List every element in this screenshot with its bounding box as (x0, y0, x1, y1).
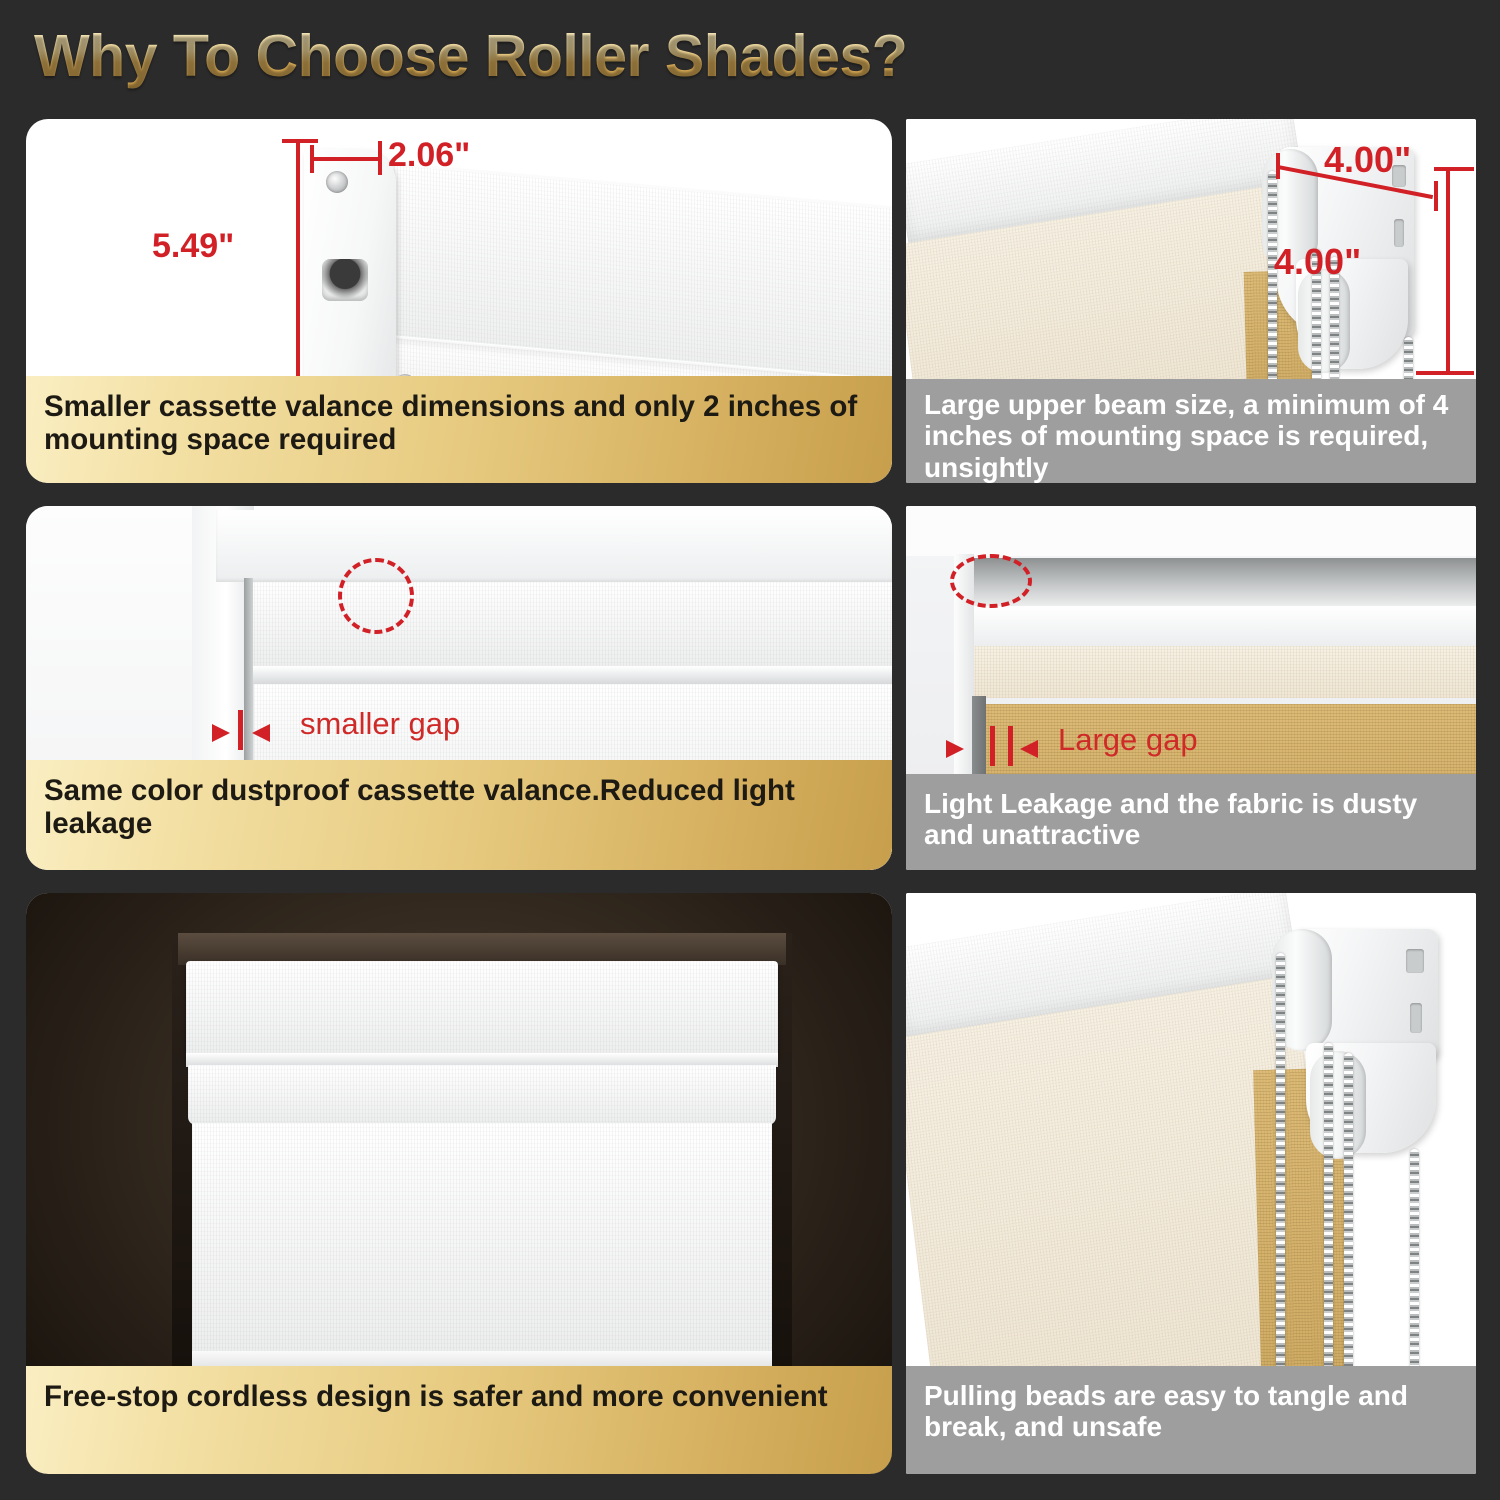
valance-knob (322, 259, 368, 301)
width-dim-line (310, 157, 382, 161)
bracket-disc-lower (1310, 1051, 1366, 1159)
window-frame-top (216, 510, 892, 582)
panel-good-cordless: Free-stop cordless design is safer and m… (26, 893, 892, 1474)
panel-caption: Large upper beam size, a minimum of 4 in… (906, 379, 1476, 483)
width-dimension-label: 4.00" (1324, 139, 1411, 181)
height-dimension-label: 5.49" (152, 227, 234, 266)
gap-marker-line-a (990, 726, 995, 766)
page-title: Why To Choose Roller Shades? (34, 22, 907, 90)
cream-fabric-band (966, 646, 1476, 698)
height-dim-line (1446, 167, 1450, 375)
bead-chain (1344, 1053, 1353, 1373)
panel-caption: Free-stop cordless design is safer and m… (26, 1366, 892, 1474)
width-dimension-label: 2.06" (388, 136, 470, 175)
height-dim-tick-top (282, 139, 318, 143)
width-dim-tick-right (378, 141, 382, 175)
screw-icon (326, 171, 348, 193)
width-dim-tick-left (310, 145, 314, 173)
cassette-valance (186, 961, 778, 1059)
bead-chain (1410, 1149, 1419, 1373)
infographic-root: Why To Choose Roller Shades? 2.06" 5.49"… (0, 0, 1500, 1500)
valance-rail (248, 666, 892, 684)
gap-arrow-left-icon (1020, 740, 1038, 758)
gap-highlight-circle (950, 554, 1032, 608)
gap-arrow-left-icon (252, 724, 270, 742)
panel-caption: Same color dustproof cassette valance.Re… (26, 760, 892, 870)
gap-marker-line-b (1008, 726, 1013, 766)
bead-chain (1324, 1043, 1333, 1373)
height-dim-tick-bottom (1416, 371, 1474, 375)
bracket-disc-lower (1298, 269, 1350, 373)
gap-callout-label: smaller gap (300, 706, 460, 742)
panel-good-dimensions: 2.06" 5.49" Smaller cassette valance dim… (26, 119, 892, 483)
gap-arrow-right-icon (946, 740, 964, 758)
width-dim-tick-left (1276, 153, 1280, 179)
gap-callout-label: Large gap (1058, 722, 1198, 758)
panel-bad-dimensions: 4.00" 4.00" Large upper beam size, a min… (906, 119, 1476, 483)
panel-good-gap: smaller gap Same color dustproof cassett… (26, 506, 892, 870)
panel-bad-beads: Pulling beads are easy to tangle and bre… (906, 893, 1476, 1474)
height-dim-tick-top (1434, 167, 1474, 171)
roller-tube-shadow (966, 558, 1476, 610)
valance-lower (188, 1065, 776, 1125)
gap-highlight-circle (338, 558, 414, 634)
shade-fabric (192, 1123, 772, 1355)
bracket-slot (1394, 219, 1404, 247)
bead-chain (1276, 953, 1285, 1373)
height-dimension-label: 4.00" (1274, 241, 1361, 283)
bracket-slot (1410, 1003, 1422, 1033)
width-dim-tick-right (1434, 181, 1438, 211)
panel-caption: Smaller cassette valance dimensions and … (26, 376, 892, 483)
bracket-slot (1406, 949, 1424, 973)
panel-bad-gap: Large gap Light Leakage and the fabric i… (906, 506, 1476, 870)
panel-caption: Pulling beads are easy to tangle and bre… (906, 1366, 1476, 1474)
gap-marker-line (238, 710, 243, 750)
ceiling (906, 506, 1476, 556)
panel-caption: Light Leakage and the fabric is dusty an… (906, 774, 1476, 870)
gap-arrow-right-icon (212, 724, 230, 742)
